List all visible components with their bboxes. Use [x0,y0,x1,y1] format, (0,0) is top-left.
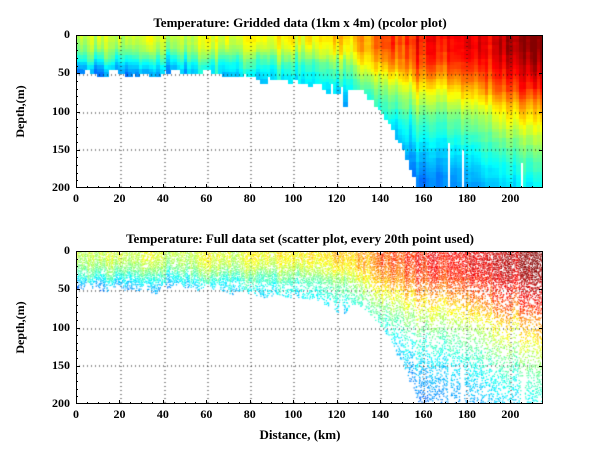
bottom-plot-title: Temperature: Full data set (scatter plot… [0,231,600,247]
x-tick-mark [163,184,164,188]
x-minor-tick [434,402,435,404]
y-tick-label: 100 [32,320,70,335]
top-plot-axes [76,35,543,188]
y-minor-tick [76,335,78,336]
x-tick-mark [250,35,251,39]
x-minor-tick [261,402,262,404]
y-minor-tick [76,312,78,313]
x-tick-mark [250,184,251,188]
x-tick-mark [163,251,164,255]
gridded-pcolor-canvas [77,36,542,187]
x-tick-label: 60 [186,191,226,206]
full-scatter-canvas [77,252,542,403]
y-minor-tick [76,373,78,374]
x-tick-mark [293,251,294,255]
x-minor-tick [478,186,479,188]
x-minor-tick [500,402,501,404]
x-minor-tick [348,402,349,404]
x-minor-tick [228,402,229,404]
y-tick-mark [76,112,80,113]
y-minor-tick [76,58,78,59]
x-tick-mark [250,400,251,404]
bottom-plot-axes [76,251,543,404]
x-minor-tick [185,186,186,188]
x-tick-label: 20 [99,407,139,422]
x-minor-tick [304,186,305,188]
x-minor-tick [261,186,262,188]
x-minor-tick [489,402,490,404]
x-minor-tick [228,186,229,188]
x-minor-tick [282,186,283,188]
x-tick-mark [380,251,381,255]
x-minor-tick [98,402,99,404]
figure-canvas-area: Temperature: Gridded data (1km x 4m) (pc… [0,0,600,451]
x-tick-label: 0 [56,191,96,206]
y-tick-mark [539,112,543,113]
x-tick-label: 80 [230,407,270,422]
x-minor-tick [358,186,359,188]
y-tick-label: 50 [32,281,70,296]
x-minor-tick [478,402,479,404]
y-minor-tick [76,43,78,44]
x-minor-tick [217,186,218,188]
x-tick-mark [424,251,425,255]
y-minor-tick [76,66,78,67]
x-tick-mark [510,184,511,188]
x-minor-tick [271,186,272,188]
x-tick-label: 100 [273,407,313,422]
x-minor-tick [315,186,316,188]
x-tick-mark [337,400,338,404]
x-tick-mark [337,184,338,188]
x-minor-tick [402,186,403,188]
x-tick-mark [510,251,511,255]
y-tick-label: 0 [32,243,70,258]
y-tick-label: 50 [32,65,70,80]
x-tick-mark [380,400,381,404]
y-tick-label: 150 [32,358,70,373]
x-tick-label: 80 [230,191,270,206]
x-tick-label: 160 [404,407,444,422]
x-minor-tick [239,402,240,404]
y-minor-tick [76,320,78,321]
x-tick-label: 40 [143,407,183,422]
x-tick-mark [510,400,511,404]
x-tick-label: 0 [56,407,96,422]
x-tick-mark [337,35,338,39]
y-tick-mark [76,150,80,151]
x-minor-tick [282,402,283,404]
x-tick-mark [250,251,251,255]
y-tick-label: 150 [32,142,70,157]
x-tick-mark [119,35,120,39]
y-minor-tick [76,81,78,82]
x-tick-label: 140 [360,191,400,206]
x-minor-tick [358,402,359,404]
x-tick-label: 100 [273,191,313,206]
y-minor-tick [76,173,78,174]
x-minor-tick [239,186,240,188]
x-minor-tick [109,186,110,188]
x-tick-mark [206,184,207,188]
x-minor-tick [87,402,88,404]
y-minor-tick [76,274,78,275]
top-plot-title: Temperature: Gridded data (1km x 4m) (pc… [0,15,600,31]
top-y-axis-label: Depth,(m) [13,35,28,188]
x-tick-label: 200 [490,407,530,422]
y-tick-label: 100 [32,104,70,119]
x-minor-tick [315,402,316,404]
x-tick-mark [206,35,207,39]
y-tick-label: 0 [32,27,70,42]
y-minor-tick [76,343,78,344]
x-minor-tick [402,402,403,404]
y-tick-mark [539,328,543,329]
y-tick-mark [76,73,80,74]
x-minor-tick [152,186,153,188]
x-minor-tick [445,402,446,404]
y-minor-tick [76,157,78,158]
x-tick-label: 60 [186,407,226,422]
x-tick-mark [467,251,468,255]
x-tick-mark [119,184,120,188]
x-tick-mark [510,35,511,39]
x-minor-tick [521,186,522,188]
x-minor-tick [369,186,370,188]
x-minor-tick [304,402,305,404]
x-minor-tick [369,402,370,404]
x-tick-mark [380,184,381,188]
x-tick-mark [424,35,425,39]
y-minor-tick [76,266,78,267]
x-minor-tick [217,402,218,404]
x-minor-tick [456,186,457,188]
y-minor-tick [76,389,78,390]
x-tick-mark [467,35,468,39]
x-minor-tick [391,402,392,404]
y-minor-tick [76,96,78,97]
x-tick-label: 140 [360,407,400,422]
y-minor-tick [76,381,78,382]
x-tick-mark [206,251,207,255]
x-minor-tick [98,186,99,188]
y-minor-tick [76,259,78,260]
x-minor-tick [141,186,142,188]
x-tick-label: 200 [490,191,530,206]
x-tick-mark [293,184,294,188]
x-tick-mark [467,400,468,404]
y-tick-mark [539,150,543,151]
x-minor-tick [500,186,501,188]
x-minor-tick [271,402,272,404]
x-tick-label: 160 [404,191,444,206]
y-minor-tick [76,350,78,351]
y-minor-tick [76,358,78,359]
y-minor-tick [76,282,78,283]
x-minor-tick [174,186,175,188]
y-minor-tick [76,305,78,306]
y-tick-mark [76,366,80,367]
x-axis-label: Distance, (km) [0,427,600,443]
x-minor-tick [489,186,490,188]
y-minor-tick [76,165,78,166]
x-minor-tick [152,402,153,404]
x-minor-tick [521,402,522,404]
y-minor-tick [76,127,78,128]
x-tick-label: 180 [447,407,487,422]
x-minor-tick [326,402,327,404]
y-minor-tick [76,134,78,135]
x-minor-tick [413,186,414,188]
x-tick-mark [163,35,164,39]
x-minor-tick [532,402,533,404]
x-tick-mark [119,251,120,255]
x-tick-mark [206,400,207,404]
y-tick-mark [76,328,80,329]
x-minor-tick [185,402,186,404]
x-tick-label: 120 [317,407,357,422]
x-minor-tick [174,402,175,404]
x-minor-tick [445,186,446,188]
x-minor-tick [434,186,435,188]
y-minor-tick [76,396,78,397]
y-tick-mark [539,289,543,290]
x-minor-tick [413,402,414,404]
x-tick-mark [424,184,425,188]
y-minor-tick [76,89,78,90]
x-minor-tick [326,186,327,188]
x-minor-tick [195,402,196,404]
x-tick-mark [380,35,381,39]
x-minor-tick [348,186,349,188]
x-minor-tick [532,186,533,188]
y-minor-tick [76,50,78,51]
x-minor-tick [109,402,110,404]
x-tick-label: 20 [99,191,139,206]
x-tick-label: 180 [447,191,487,206]
x-minor-tick [456,402,457,404]
bottom-y-axis-label: Depth,(m) [13,251,28,404]
y-tick-mark [539,73,543,74]
x-minor-tick [87,186,88,188]
x-tick-mark [163,400,164,404]
y-minor-tick [76,119,78,120]
x-minor-tick [195,186,196,188]
x-minor-tick [130,186,131,188]
x-tick-mark [337,251,338,255]
x-tick-label: 40 [143,191,183,206]
y-tick-mark [76,289,80,290]
x-tick-mark [293,35,294,39]
x-tick-mark [119,400,120,404]
y-minor-tick [76,142,78,143]
x-tick-label: 120 [317,191,357,206]
x-tick-mark [293,400,294,404]
y-minor-tick [76,297,78,298]
x-minor-tick [141,402,142,404]
x-tick-mark [424,400,425,404]
y-minor-tick [76,104,78,105]
y-tick-mark [539,366,543,367]
x-tick-mark [467,184,468,188]
y-minor-tick [76,180,78,181]
x-minor-tick [391,186,392,188]
x-minor-tick [130,402,131,404]
